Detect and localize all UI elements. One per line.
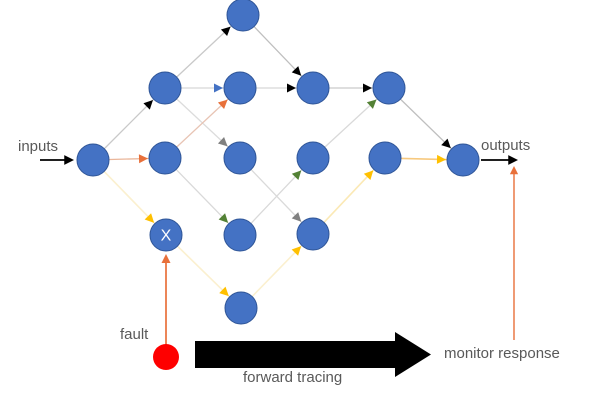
node-n_bot[interactable] — [225, 292, 257, 324]
edge-n_h1a-to-n_top — [177, 27, 230, 77]
input-arrow — [40, 155, 74, 165]
edge-n_in-to-n_fault — [105, 172, 154, 223]
edge-arrowhead — [139, 154, 148, 163]
edge-arrowhead — [363, 84, 372, 93]
label-inputs: inputs — [18, 139, 58, 154]
edge-line — [177, 27, 230, 77]
node-circle[interactable] — [224, 72, 256, 104]
forward-tracing-shaft — [195, 341, 395, 368]
node-circle[interactable] — [149, 72, 181, 104]
node-circle[interactable] — [447, 144, 479, 176]
node-n_top[interactable] — [227, 0, 259, 31]
edge-n_top-to-n_h3a — [255, 27, 301, 75]
node-n_h2c[interactable] — [224, 219, 256, 251]
node-circle[interactable] — [149, 142, 181, 174]
node-circle[interactable] — [77, 144, 109, 176]
node-layer: X — [77, 0, 479, 324]
node-circle[interactable] — [297, 142, 329, 174]
edge-n_in-to-n_h1a — [105, 100, 153, 148]
edge-line — [255, 27, 301, 75]
edge-arrowhead — [437, 155, 446, 164]
node-circle[interactable] — [373, 72, 405, 104]
label-outputs: outputs — [481, 138, 530, 153]
monitor-arrow — [510, 166, 518, 340]
node-n_h3b[interactable] — [297, 142, 329, 174]
node-n_h4a[interactable] — [373, 72, 405, 104]
edge-n_h1b-to-n_h2c — [177, 170, 228, 223]
node-n_h3a[interactable] — [297, 72, 329, 104]
node-n_out[interactable] — [447, 144, 479, 176]
edge-line — [401, 100, 451, 148]
label-forward-tracing: forward tracing — [243, 370, 342, 385]
edge-line — [325, 170, 374, 221]
forward-tracing-head — [395, 332, 431, 377]
edge-line — [178, 247, 229, 296]
edge-line — [326, 100, 377, 147]
node-n_h2b[interactable] — [224, 142, 256, 174]
network-diagram: X — [0, 0, 600, 400]
edge-line — [177, 170, 228, 223]
edge-n_bot-to-n_h3c — [253, 246, 301, 296]
node-n_fault[interactable]: X — [150, 219, 182, 251]
edge-n_h1a-to-n_h2a — [182, 84, 223, 93]
annotation-layer — [40, 155, 518, 377]
edge-line — [105, 100, 153, 148]
node-n_h3c[interactable] — [297, 218, 329, 250]
edge-n_in-to-n_h1b — [110, 154, 148, 163]
edge-n_h3a-to-n_h4a — [330, 84, 372, 93]
label-monitor-response: monitor response — [444, 346, 560, 361]
node-n_h1a[interactable] — [149, 72, 181, 104]
output-arrow-head — [508, 155, 518, 165]
fault-source-dot — [153, 344, 179, 370]
edge-n_h4b-to-n_out — [402, 155, 446, 164]
edge-n_h3c-to-n_h4b — [325, 170, 374, 221]
edge-n_h4a-to-n_out — [401, 100, 451, 148]
node-label: X — [161, 228, 172, 245]
edge-n_fault-to-n_bot — [178, 247, 229, 296]
edge-arrowhead — [214, 84, 223, 93]
diagram-canvas: X inputs outputs fault forward tracing m… — [0, 0, 600, 400]
edge-line — [253, 246, 301, 296]
node-circle[interactable] — [227, 0, 259, 31]
edge-n_h2a-to-n_h3a — [257, 84, 296, 93]
edge-arrowhead — [287, 84, 296, 93]
fault-arrow — [162, 254, 171, 345]
monitor-arrow-head — [510, 166, 518, 174]
node-circle[interactable] — [225, 292, 257, 324]
input-arrow-head — [64, 155, 74, 165]
edge-line — [105, 172, 154, 223]
node-n_h4b[interactable] — [369, 142, 401, 174]
node-circle[interactable] — [369, 142, 401, 174]
node-n_h2a[interactable] — [224, 72, 256, 104]
node-n_in[interactable] — [77, 144, 109, 176]
node-circle[interactable] — [224, 142, 256, 174]
label-fault: fault — [120, 327, 148, 342]
edge-n_h3b-to-n_h4a — [326, 100, 377, 147]
fault-arrow-head — [162, 254, 171, 263]
node-circle[interactable] — [297, 218, 329, 250]
node-circle[interactable] — [297, 72, 329, 104]
output-arrow — [481, 155, 518, 165]
node-circle[interactable] — [224, 219, 256, 251]
node-n_h1b[interactable] — [149, 142, 181, 174]
